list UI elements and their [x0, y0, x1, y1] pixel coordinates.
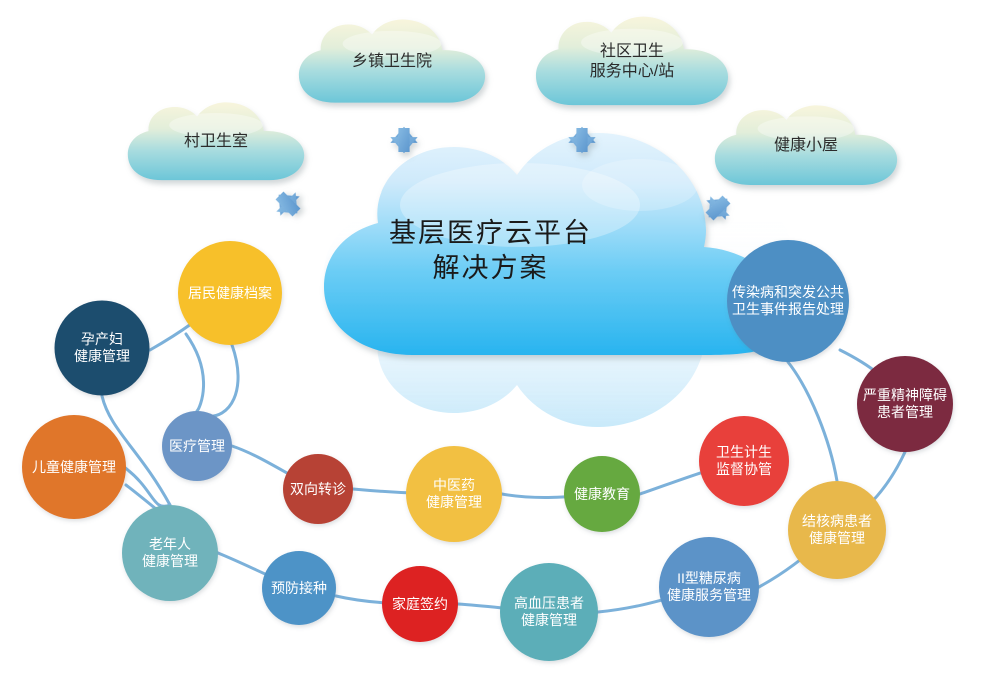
node-label-line: 传染病和突发公共	[728, 284, 848, 301]
node-label-line: 老年人	[138, 536, 202, 553]
node-label-line: 健康管理	[138, 553, 202, 570]
node-label-text: 传染病和突发公共卫生事件报告处理	[728, 284, 848, 317]
node-label-elderly-health[interactable]: 老年人健康管理	[122, 505, 218, 601]
node-label-line: 双向转诊	[286, 481, 350, 498]
node-label-line: 结核病患者	[798, 513, 876, 530]
satellite-clouds	[128, 17, 897, 185]
connector-line	[788, 362, 837, 481]
node-label-text: 老年人健康管理	[138, 536, 202, 569]
main-cloud-title-line1: 基层医疗云平台	[0, 216, 981, 251]
node-label-severe-mental-disorder[interactable]: 严重精神障碍患者管理	[857, 356, 953, 452]
node-label-line: 预防接种	[267, 580, 331, 597]
node-label-two-way-referral[interactable]: 双向转诊	[283, 454, 353, 524]
node-label-health-supervision[interactable]: 卫生计生监督协管	[699, 416, 789, 506]
node-label-line: 健康教育	[570, 486, 634, 503]
node-label-tcm-health[interactable]: 中医药健康管理	[406, 446, 502, 542]
arrow-township-hospital	[390, 127, 417, 154]
node-label-infectious-disease-report[interactable]: 传染病和突发公共卫生事件报告处理	[727, 240, 849, 362]
node-label-line: 健康管理	[422, 494, 486, 511]
node-label-text: 预防接种	[267, 580, 331, 597]
node-label-line: 卫生事件报告处理	[728, 301, 848, 318]
node-label-text: 结核病患者健康管理	[798, 513, 876, 546]
node-label-line: 家庭签约	[388, 596, 452, 613]
node-label-line: 医疗管理	[165, 438, 229, 455]
cloud-highlight	[169, 113, 263, 137]
node-label-tuberculosis-health[interactable]: 结核病患者健康管理	[788, 481, 886, 579]
node-label-text: 双向转诊	[286, 481, 350, 498]
node-label-line: 健康管理	[798, 530, 876, 547]
node-label-family-contract[interactable]: 家庭签约	[382, 566, 458, 642]
node-label-line: II型糖尿病	[663, 570, 755, 587]
node-label-line: 健康管理	[70, 348, 134, 365]
cloud-highlight	[581, 29, 683, 56]
node-label-line: 健康服务管理	[663, 587, 755, 604]
node-label-diabetes-health[interactable]: II型糖尿病健康服务管理	[659, 537, 759, 637]
connector-line	[186, 334, 204, 411]
cloud-highlight	[758, 116, 855, 141]
node-label-line: 患者管理	[859, 404, 951, 421]
node-label-text: 孕产妇健康管理	[70, 331, 134, 364]
node-label-vaccination[interactable]: 预防接种	[262, 551, 336, 625]
node-label-text: 卫生计生监督协管	[712, 444, 776, 477]
connector-line	[205, 345, 238, 416]
node-label-line: 高血压患者	[510, 595, 588, 612]
node-label-text: 居民健康档案	[184, 285, 276, 302]
node-label-hypertension-health[interactable]: 高血压患者健康管理	[500, 563, 598, 661]
node-label-line: 儿童健康管理	[28, 459, 120, 476]
cloud-highlight	[343, 31, 442, 57]
node-label-text: 医疗管理	[165, 438, 229, 455]
node-label-line: 中医药	[422, 477, 486, 494]
node-label-line: 孕产妇	[70, 331, 134, 348]
node-label-line: 健康管理	[510, 612, 588, 629]
diagram-canvas: 基层医疗云平台 解决方案 村卫生室乡镇卫生院社区卫生服务中心/站健康小屋居民健康…	[0, 0, 981, 684]
node-label-health-education[interactable]: 健康教育	[564, 456, 640, 532]
node-label-text: 健康教育	[570, 486, 634, 503]
node-label-line: 监督协管	[712, 461, 776, 478]
node-label-text: II型糖尿病健康服务管理	[663, 570, 755, 603]
node-label-child-health[interactable]: 儿童健康管理	[22, 415, 126, 519]
node-label-medical-management[interactable]: 医疗管理	[162, 411, 232, 481]
node-label-line: 卫生计生	[712, 444, 776, 461]
node-label-text: 家庭签约	[388, 596, 452, 613]
node-label-text: 高血压患者健康管理	[510, 595, 588, 628]
node-label-text: 儿童健康管理	[28, 459, 120, 476]
node-label-line: 居民健康档案	[184, 285, 276, 302]
node-label-line: 严重精神障碍	[859, 387, 951, 404]
node-label-text: 中医药健康管理	[422, 477, 486, 510]
node-label-resident-health-record[interactable]: 居民健康档案	[178, 241, 282, 345]
node-label-maternal-health[interactable]: 孕产妇健康管理	[55, 301, 150, 396]
node-label-text: 严重精神障碍患者管理	[859, 387, 951, 420]
